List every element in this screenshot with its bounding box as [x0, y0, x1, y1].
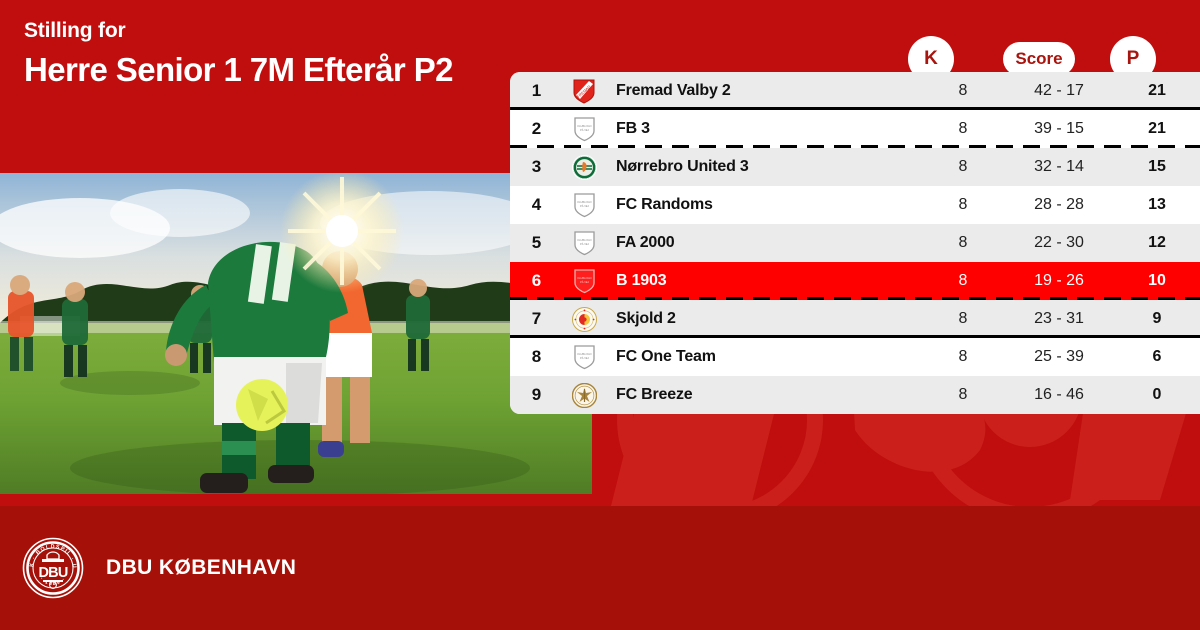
row-team-name: B 1903 — [605, 272, 922, 290]
row-goal-score: 39 - 15 — [1004, 120, 1114, 138]
table-row[interactable]: 8KLUBLOGOPÅ VEJFC One Team825 - 396 — [510, 338, 1200, 376]
row-matches-played: 8 — [922, 234, 1004, 252]
row-matches-played: 8 — [922, 272, 1004, 290]
placeholder-crest: KLUBLOGOPÅ VEJ — [563, 230, 605, 256]
svg-text:KLUBLOGO: KLUBLOGO — [577, 124, 591, 128]
row-rank: 3 — [510, 157, 563, 177]
fremad-valby-crest: FREMAD — [572, 78, 596, 104]
standings-table: 1FREMADFremad Valby 2842 - 17212KLUBLOGO… — [510, 72, 1200, 414]
placeholder-crest: KLUBLOGOPÅ VEJ — [563, 192, 605, 218]
row-rank: 5 — [510, 233, 563, 253]
table-row[interactable]: 7Skjold 2823 - 319 — [510, 300, 1200, 338]
table-row[interactable]: 1FREMADFremad Valby 2842 - 1721 — [510, 72, 1200, 110]
svg-text:KLUBLOGO: KLUBLOGO — [577, 238, 591, 242]
row-matches-played: 8 — [922, 196, 1004, 214]
column-header-score: Score — [1003, 42, 1075, 76]
row-points: 15 — [1114, 158, 1200, 176]
row-goal-score: 19 - 26 — [1004, 272, 1114, 290]
row-points: 10 — [1114, 272, 1200, 290]
placeholder-crest: KLUBLOGOPÅ VEJ — [573, 116, 596, 142]
svg-text:KLUBLOGO: KLUBLOGO — [577, 200, 591, 204]
row-points: 21 — [1114, 82, 1200, 100]
table-row[interactable]: 4KLUBLOGOPÅ VEJFC Randoms828 - 2813 — [510, 186, 1200, 224]
row-goal-score: 25 - 39 — [1004, 348, 1114, 366]
norrebro-united-crest — [563, 155, 605, 180]
row-rank: 4 — [510, 195, 563, 215]
row-points: 0 — [1114, 386, 1200, 404]
fremad-valby-crest: FREMAD — [563, 78, 605, 104]
fc-breeze-crest — [563, 383, 605, 408]
row-team-name: FC One Team — [605, 348, 922, 366]
svg-text:DBU: DBU — [38, 565, 67, 581]
table-row[interactable]: 2KLUBLOGOPÅ VEJFB 3839 - 1521 — [510, 110, 1200, 148]
row-goal-score: 28 - 28 — [1004, 196, 1114, 214]
row-team-name: Fremad Valby 2 — [605, 82, 922, 100]
row-goal-score: 42 - 17 — [1004, 82, 1114, 100]
row-rank: 6 — [510, 271, 563, 291]
page-title: Herre Senior 1 7M Efterår P2 — [24, 50, 494, 90]
row-goal-score: 32 - 14 — [1004, 158, 1114, 176]
dbu-logo: DANSK · BOLDSPIL · UNION · 1889 · DBU — [22, 537, 84, 599]
placeholder-crest: KLUBLOGOPÅ VEJ — [563, 344, 605, 370]
table-row[interactable]: 9FC Breeze816 - 460 — [510, 376, 1200, 414]
row-team-name: FB 3 — [605, 120, 922, 138]
svg-text:KLUBLOGO: KLUBLOGO — [577, 276, 591, 280]
stilling-graphic: Stilling for Herre Senior 1 7M Efterår P… — [0, 0, 1200, 630]
svg-text:KLUBLOGO: KLUBLOGO — [577, 352, 591, 356]
table-row[interactable]: 6KLUBLOGOPÅ VEJB 1903819 - 2610 — [510, 262, 1200, 300]
row-points: 9 — [1114, 310, 1200, 328]
row-rank: 9 — [510, 385, 563, 405]
row-rank: 8 — [510, 347, 563, 367]
row-rank: 1 — [510, 81, 563, 101]
row-points: 13 — [1114, 196, 1200, 214]
row-team-name: Skjold 2 — [605, 310, 922, 328]
row-team-name: Nørrebro United 3 — [605, 158, 922, 176]
row-matches-played: 8 — [922, 348, 1004, 366]
row-team-name: FC Breeze — [605, 386, 922, 404]
table-row[interactable]: 3Nørrebro United 3832 - 1415 — [510, 148, 1200, 186]
header-block: Stilling for Herre Senior 1 7M Efterår P… — [24, 18, 494, 90]
football-match-photo — [0, 173, 592, 494]
skjold-crest — [572, 307, 597, 332]
row-goal-score: 16 - 46 — [1004, 386, 1114, 404]
row-matches-played: 8 — [922, 386, 1004, 404]
fc-breeze-crest — [572, 383, 597, 408]
placeholder-crest: KLUBLOGOPÅ VEJ — [563, 116, 605, 142]
row-points: 12 — [1114, 234, 1200, 252]
placeholder-crest-red: KLUBLOGOPÅ VEJ — [563, 268, 605, 294]
row-matches-played: 8 — [922, 120, 1004, 138]
table-row[interactable]: 5KLUBLOGOPÅ VEJFA 2000822 - 3012 — [510, 224, 1200, 262]
page-kicker: Stilling for — [24, 18, 494, 44]
placeholder-crest: KLUBLOGOPÅ VEJ — [573, 230, 596, 256]
row-matches-played: 8 — [922, 310, 1004, 328]
skjold-crest — [563, 307, 605, 332]
row-goal-score: 23 - 31 — [1004, 310, 1114, 328]
placeholder-crest: KLUBLOGOPÅ VEJ — [573, 268, 596, 294]
row-rank: 2 — [510, 119, 563, 139]
placeholder-crest: KLUBLOGOPÅ VEJ — [573, 192, 596, 218]
row-goal-score: 22 - 30 — [1004, 234, 1114, 252]
norrebro-united-crest — [572, 155, 597, 180]
footer-bar: DANSK · BOLDSPIL · UNION · 1889 · DBU DB… — [0, 506, 1200, 630]
row-rank: 7 — [510, 309, 563, 329]
footer-org-name: DBU KØBENHAVN — [106, 556, 296, 580]
placeholder-crest: KLUBLOGOPÅ VEJ — [573, 344, 596, 370]
row-points: 21 — [1114, 120, 1200, 138]
row-team-name: FA 2000 — [605, 234, 922, 252]
row-points: 6 — [1114, 348, 1200, 366]
row-matches-played: 8 — [922, 158, 1004, 176]
row-team-name: FC Randoms — [605, 196, 922, 214]
row-matches-played: 8 — [922, 82, 1004, 100]
